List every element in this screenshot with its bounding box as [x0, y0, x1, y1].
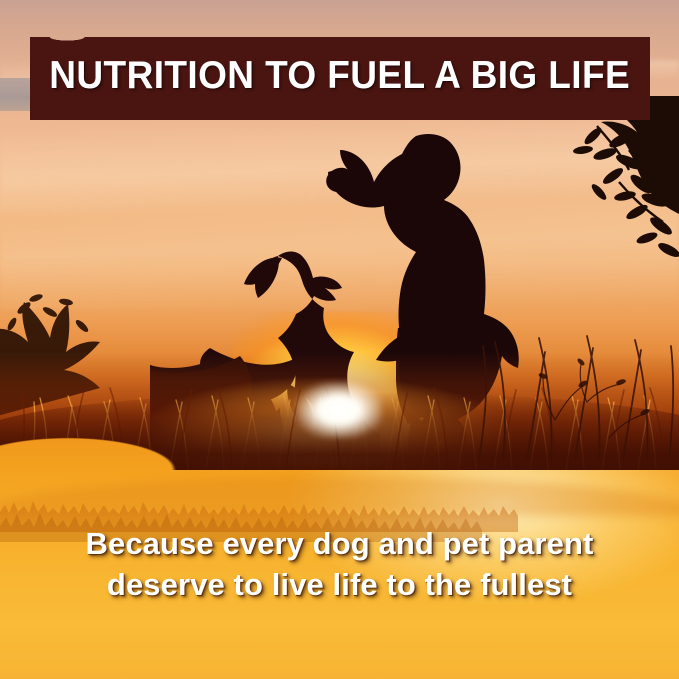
tagline-line-1: Because every dog and pet parent [0, 524, 679, 565]
tall-grass-right [459, 270, 679, 460]
sun-core [296, 382, 382, 438]
tagline-line-2: deserve to live life to the fullest [0, 565, 679, 606]
title-ribbon: NUTRITION TO FUEL A BIG LIFE [30, 37, 650, 120]
left-edge-strip [0, 78, 30, 111]
page-title: NUTRITION TO FUEL A BIG LIFE [50, 56, 631, 95]
tagline: Because every dog and pet parent deserve… [0, 524, 679, 606]
product-banner: NUTRITION TO FUEL A BIG LIFE Because eve… [0, 0, 679, 679]
